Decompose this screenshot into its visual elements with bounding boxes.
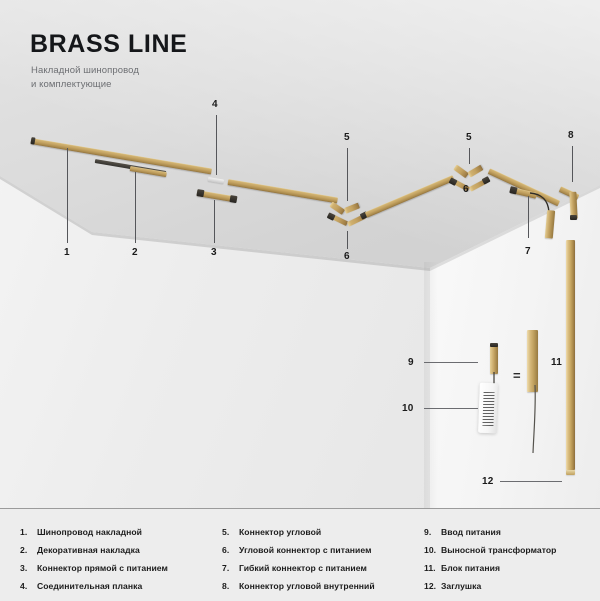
callout-8: 8 <box>568 131 574 141</box>
room-scene: = 1 2 3 4 5 6 5 6 7 8 9 10 11 12 BRASS L… <box>0 0 600 508</box>
legend-item-11-number: 11. <box>424 563 441 573</box>
callout-5b: 5 <box>466 133 472 143</box>
legend-item-10-number: 10. <box>424 545 441 555</box>
page-title: BRASS LINE <box>30 32 187 57</box>
legend-item-11-text: Блок питания <box>441 563 500 573</box>
legend-item-3: 3. Коннектор прямой с питанием <box>20 563 168 573</box>
leader-line-3 <box>214 200 215 243</box>
power-input-9 <box>490 344 498 374</box>
equals-symbol: = <box>513 368 521 383</box>
legend-item-8: 8. Коннектор угловой внутренний <box>222 581 375 591</box>
leader-line-12 <box>500 481 562 482</box>
legend-item-7: 7. Гибкий коннектор с питанием <box>222 563 367 573</box>
legend-item-1-number: 1. <box>20 527 37 537</box>
legend-item-10-text: Выносной трансформатор <box>441 545 556 555</box>
legend-item-5: 5. Коннектор угловой <box>222 527 321 537</box>
callout-5a: 5 <box>344 133 350 143</box>
callout-4: 4 <box>212 100 218 110</box>
leader-line-7 <box>528 196 529 238</box>
end-cap-12 <box>566 470 575 475</box>
legend-item-9: 9. Ввод питания <box>424 527 501 537</box>
callout-6a: 6 <box>344 252 350 262</box>
page-subtitle-line1: Накладной шинопровод <box>31 64 139 78</box>
callout-9: 9 <box>408 358 414 368</box>
legend-item-4: 4. Соединительная планка <box>20 581 142 591</box>
legend-item-5-text: Коннектор угловой <box>239 527 321 537</box>
legend-item-9-number: 9. <box>424 527 441 537</box>
leader-line-4 <box>216 115 217 175</box>
legend-item-3-text: Коннектор прямой с питанием <box>37 563 168 573</box>
legend-item-12-number: 12. <box>424 581 441 591</box>
leader-line-1 <box>67 148 68 243</box>
power-block-cable <box>527 385 545 455</box>
legend-item-11: 11. Блок питания <box>424 563 500 573</box>
power-input-9-cap <box>490 343 498 347</box>
leader-line-5a <box>347 148 348 201</box>
leader-line-9 <box>424 362 478 363</box>
straight-power-connector-cap-left <box>196 189 204 197</box>
legend-item-2-number: 2. <box>20 545 37 555</box>
callout-7: 7 <box>525 247 531 257</box>
legend-item-12-text: Заглушка <box>441 581 481 591</box>
legend-item-8-number: 8. <box>222 581 239 591</box>
wall-track-rail <box>566 240 575 470</box>
power-block-11 <box>527 330 538 392</box>
callout-6b: 6 <box>463 185 469 195</box>
legend-item-2-text: Декоративная накладка <box>37 545 140 555</box>
callout-3: 3 <box>211 248 217 258</box>
legend-item-6-text: Угловой коннектор с питанием <box>239 545 371 555</box>
callout-12: 12 <box>482 477 494 487</box>
wall-corner-shadow <box>424 262 438 508</box>
leader-line-2 <box>135 172 136 243</box>
legend-item-7-number: 7. <box>222 563 239 573</box>
legend-item-6-number: 6. <box>222 545 239 555</box>
legend-item-5-number: 5. <box>222 527 239 537</box>
callout-10: 10 <box>402 404 414 414</box>
inner-corner-connector-cap <box>570 215 577 220</box>
legend-item-4-number: 4. <box>20 581 37 591</box>
leader-line-8 <box>572 146 573 182</box>
leader-line-6a <box>347 231 348 249</box>
callout-11: 11 <box>551 358 562 368</box>
legend-item-1: 1. Шинопровод накладной <box>20 527 142 537</box>
legend-item-7-text: Гибкий коннектор с питанием <box>239 563 367 573</box>
leader-line-10 <box>424 408 478 409</box>
callout-2: 2 <box>132 248 138 258</box>
legend-item-10: 10. Выносной трансформатор <box>424 545 556 555</box>
page-subtitle: Накладной шинопровод и комплектующие <box>31 64 139 92</box>
legend-item-8-text: Коннектор угловой внутренний <box>239 581 375 591</box>
legend-item-4-text: Соединительная планка <box>37 581 142 591</box>
legend-item-12: 12. Заглушка <box>424 581 481 591</box>
leader-line-5b <box>469 148 470 164</box>
legend-item-6: 6. Угловой коннектор с питанием <box>222 545 371 555</box>
legend-item-2: 2. Декоративная накладка <box>20 545 140 555</box>
transformer-label-marks <box>482 392 494 426</box>
legend-item-9-text: Ввод питания <box>441 527 501 537</box>
straight-power-connector-cap-right <box>229 195 237 203</box>
product-diagram-page: = 1 2 3 4 5 6 5 6 7 8 9 10 11 12 BRASS L… <box>0 0 600 600</box>
legend-item-1-text: Шинопровод накладной <box>37 527 142 537</box>
callout-1: 1 <box>64 248 70 258</box>
legend-panel: 1. Шинопровод накладной 2. Декоративная … <box>0 508 600 601</box>
page-subtitle-line2: и комплектующие <box>31 78 139 92</box>
legend-item-3-number: 3. <box>20 563 37 573</box>
